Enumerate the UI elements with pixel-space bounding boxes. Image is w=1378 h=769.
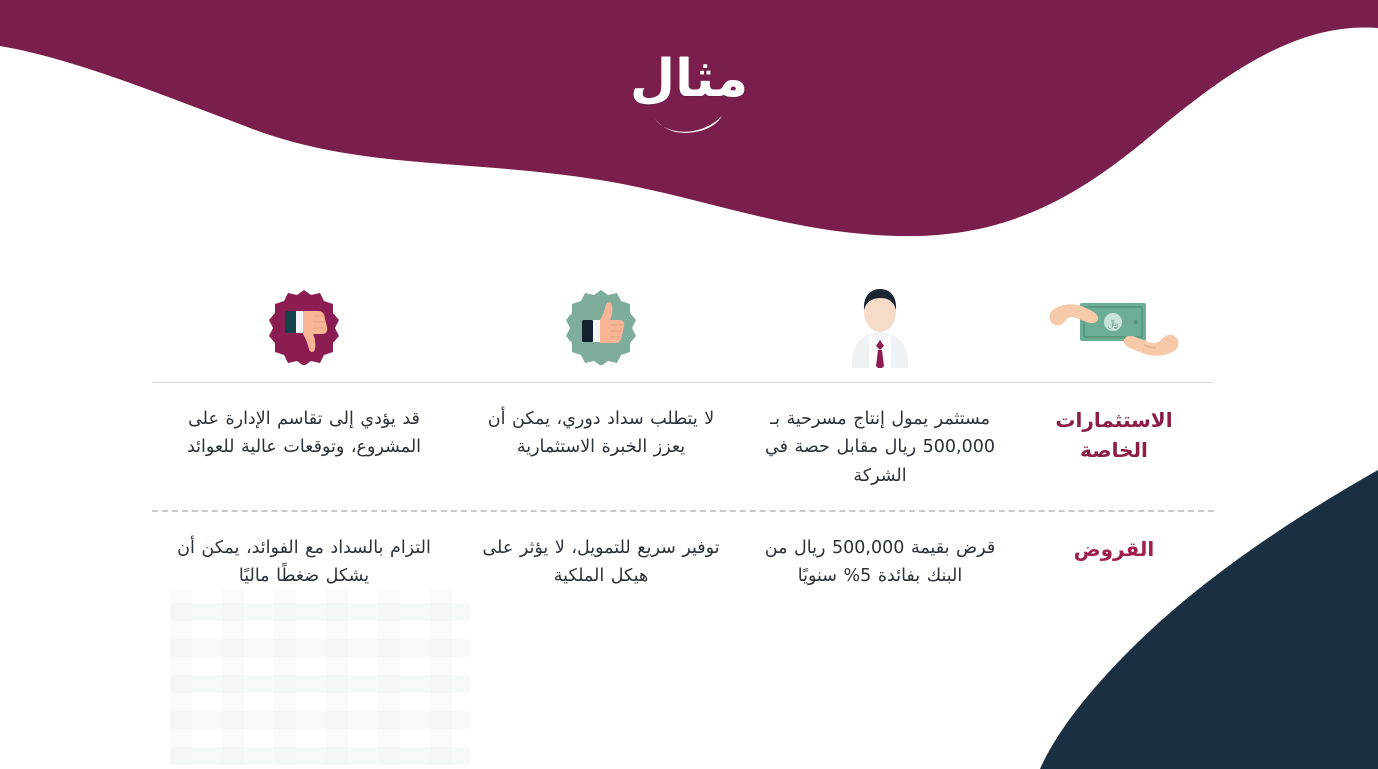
- cell-pros-private-investments: لا يتطلب سداد دوري، يمكن أن يعزز الخبرة …: [456, 405, 746, 462]
- page-title: مثال: [0, 52, 1378, 107]
- cell-text: مستثمر يمول إنتاج مسرحية بـ 500,000 ريال…: [762, 405, 998, 490]
- icon-cell-businessman: [746, 270, 1014, 382]
- brush-swoosh-underline-icon: [652, 113, 726, 139]
- table-icon-header-row: ﷼: [152, 270, 1214, 382]
- cell-text: قد يؤدي إلى تقاسم الإدارة على المشروع، و…: [168, 405, 440, 462]
- businessman-icon: [845, 284, 915, 368]
- icon-cell-thumbs-up: [456, 270, 746, 382]
- row-label-loans: القروض: [1014, 534, 1214, 564]
- svg-text:﷼: ﷼: [1107, 318, 1118, 329]
- cell-text: قرض بقيمة 500,000 ريال من البنك بفائدة 5…: [762, 534, 998, 591]
- row-label-private-investments: الاستثمارات الخاصة: [1014, 405, 1214, 465]
- thumbs-down-badge-icon: [265, 287, 343, 365]
- cell-cons-loans: التزام بالسداد مع الفوائد، يمكن أن يشكل …: [152, 534, 456, 591]
- cell-pros-loans: توفير سريع للتمويل، لا يؤثر على هيكل الم…: [456, 534, 746, 591]
- slide-header: مثال: [0, 52, 1378, 143]
- slide-canvas: مثال ﷼: [0, 0, 1378, 769]
- icon-cell-thumbs-down: [152, 270, 456, 382]
- cell-example-private-investments: مستثمر يمول إنتاج مسرحية بـ 500,000 ريال…: [746, 405, 1014, 490]
- cell-cons-private-investments: قد يؤدي إلى تقاسم الإدارة على المشروع، و…: [152, 405, 456, 462]
- thumbs-up-badge-icon: [562, 287, 640, 365]
- cell-text: لا يتطلب سداد دوري، يمكن أن يعزز الخبرة …: [472, 405, 730, 462]
- background-watermark: [170, 590, 470, 765]
- cell-text: التزام بالسداد مع الفوائد، يمكن أن يشكل …: [168, 534, 440, 591]
- table-row: القروض قرض بقيمة 500,000 ريال من البنك ب…: [152, 512, 1214, 611]
- money-exchange-hands-icon: ﷼: [1048, 285, 1180, 367]
- table-row: الاستثمارات الخاصة مستثمر يمول إنتاج مسر…: [152, 383, 1214, 510]
- cell-example-loans: قرض بقيمة 500,000 ريال من البنك بفائدة 5…: [746, 534, 1014, 591]
- cell-text: توفير سريع للتمويل، لا يؤثر على هيكل الم…: [472, 534, 730, 591]
- comparison-table: ﷼: [152, 270, 1214, 611]
- icon-cell-money-exchange: ﷼: [1014, 270, 1214, 382]
